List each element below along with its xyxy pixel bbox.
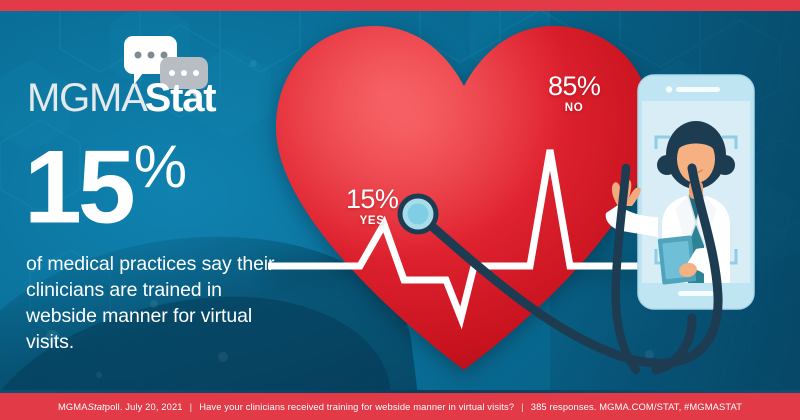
callout-no-label: NO	[548, 103, 600, 115]
footer-separator-1: |	[183, 401, 200, 412]
headline-statistic: 15%	[24, 140, 185, 235]
callout-yes: 15% YES	[346, 186, 398, 228]
bokeh-dot	[96, 372, 102, 378]
logo-mgma-text: MGMA	[27, 76, 147, 120]
footer-poll-question: Have your clinicians received training f…	[199, 401, 514, 412]
logo-wordmark: MGMAStat	[27, 78, 215, 118]
footer-responses: 385 responses. MGMA.COM/STAT, #MGMASTAT	[531, 401, 742, 412]
footer-source-rest: poll. July 20, 2021	[105, 401, 183, 412]
top-accent-bar	[0, 0, 800, 11]
doctor-waving-arm	[596, 175, 658, 241]
headline-percent-symbol: %	[134, 133, 185, 200]
mgma-stat-logo: MGMAStat	[27, 46, 237, 118]
headline-number: 15	[24, 130, 132, 246]
footer-separator-2: |	[514, 401, 531, 412]
headline-body-text: of medical practices say their clinician…	[26, 252, 276, 356]
callout-yes-value: 15%	[346, 186, 398, 213]
callout-yes-label: YES	[346, 216, 398, 228]
callout-no-value: 85%	[548, 73, 600, 100]
bokeh-dot	[250, 60, 257, 67]
infographic-canvas: MGMAStat 15% of medical practices say th…	[0, 0, 800, 420]
footer-source-italic: Stat	[88, 401, 105, 412]
logo-stat-text: Stat	[145, 76, 216, 120]
footer-source-bar: MGMA Stat poll. July 20, 2021 | Have you…	[0, 393, 800, 420]
callout-no: 85% NO	[548, 73, 600, 115]
footer-source-brand: MGMA	[58, 401, 88, 412]
